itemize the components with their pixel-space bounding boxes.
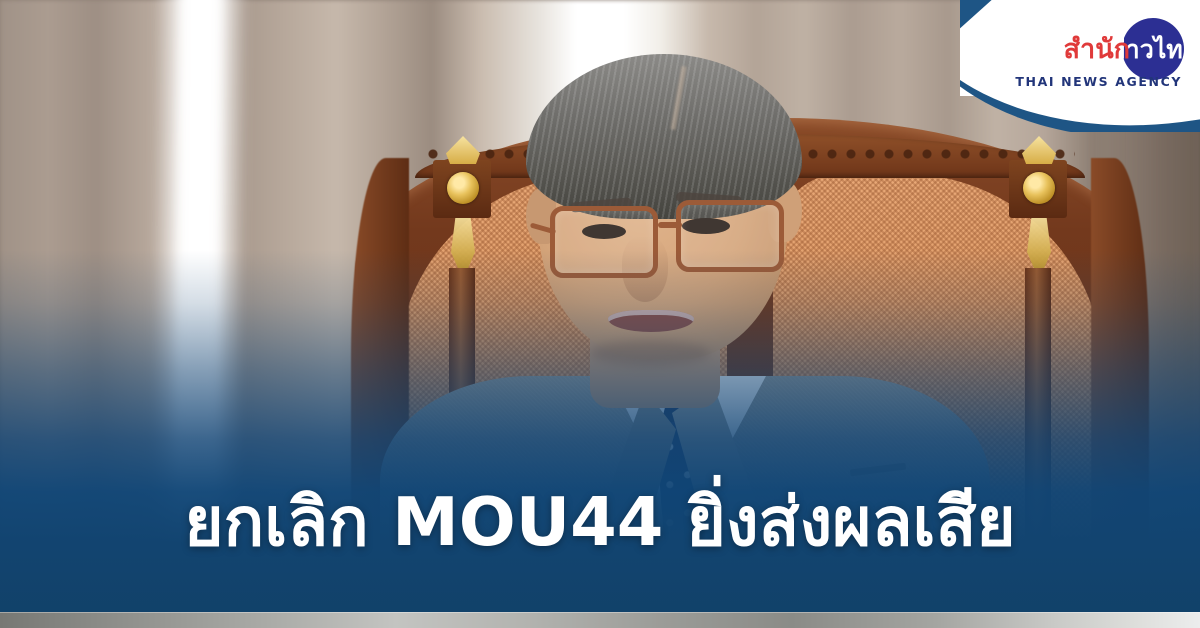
eyeglasses-icon bbox=[544, 206, 812, 284]
news-card: ยกเลิก MOU44 ยิ่งส่งผลเสีย สำนัก ข่าวไทย… bbox=[0, 0, 1200, 628]
headline-text: ยกเลิก MOU44 ยิ่งส่งผลเสีย bbox=[0, 487, 1200, 558]
chair-gilt-ornament-right bbox=[1009, 132, 1067, 282]
gold-rosette-icon bbox=[1023, 172, 1055, 204]
hair bbox=[526, 54, 802, 219]
brand-logo-badge[interactable]: สำนัก ข่าวไทย THAI NEWS AGENCY bbox=[960, 0, 1200, 132]
ornament-finial bbox=[1022, 136, 1056, 164]
logo-wordmark: สำนัก ข่าวไทย bbox=[1064, 18, 1184, 80]
chair-post-right bbox=[1025, 268, 1051, 628]
eyeglass-bridge bbox=[658, 222, 682, 228]
logo-blue-circle: ข่าวไทย bbox=[1122, 18, 1184, 80]
bottom-gray-bar bbox=[0, 612, 1200, 628]
hair-part-line bbox=[670, 66, 686, 130]
eyeglass-lens-left bbox=[550, 206, 658, 278]
logo-english-tagline: THAI NEWS AGENCY bbox=[1015, 74, 1182, 89]
chin-shadow bbox=[590, 340, 710, 366]
logo-thai-red-text: สำนัก bbox=[1064, 36, 1130, 63]
eyeglass-lens-right bbox=[676, 200, 784, 272]
